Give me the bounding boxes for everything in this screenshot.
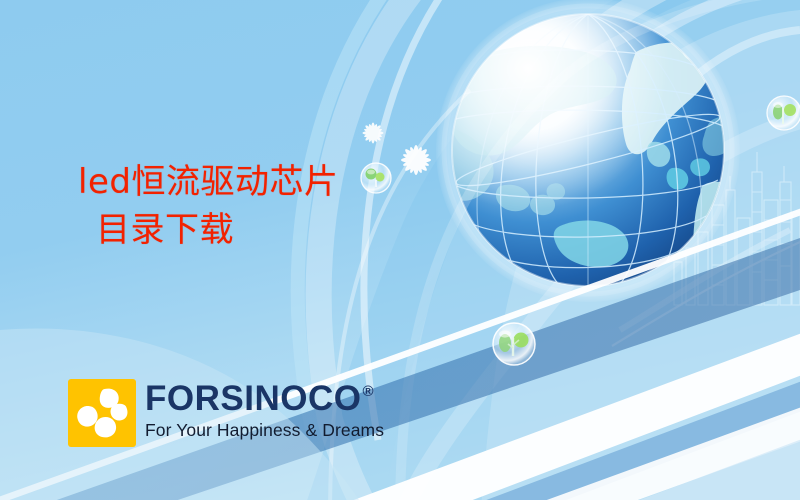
logo-mark-tile [68, 379, 136, 447]
bubble-leaf-icon [767, 96, 800, 130]
earth-globe-icon [436, 0, 740, 302]
logo-text-block: FORSINOCO ® For Your Happiness & Dreams [145, 379, 384, 441]
four-petal-pinwheel-icon [68, 379, 136, 447]
company-logo[interactable]: FORSINOCO ® For Your Happiness & Dreams [68, 379, 384, 447]
registered-trademark-icon: ® [362, 384, 374, 399]
bubble-tree-icon [493, 323, 535, 365]
banner-root: led恒流驱动芯片 目录下载 FORSINOCO ® [0, 0, 800, 500]
white-flower-small-icon [363, 123, 384, 144]
logo-wordmark-text: FORSINOCO [145, 382, 361, 416]
logo-tagline: For Your Happiness & Dreams [145, 420, 384, 441]
bubble-globe-icon [361, 163, 391, 193]
white-flower-large-icon [401, 145, 431, 175]
logo-wordmark: FORSINOCO ® [145, 382, 384, 416]
